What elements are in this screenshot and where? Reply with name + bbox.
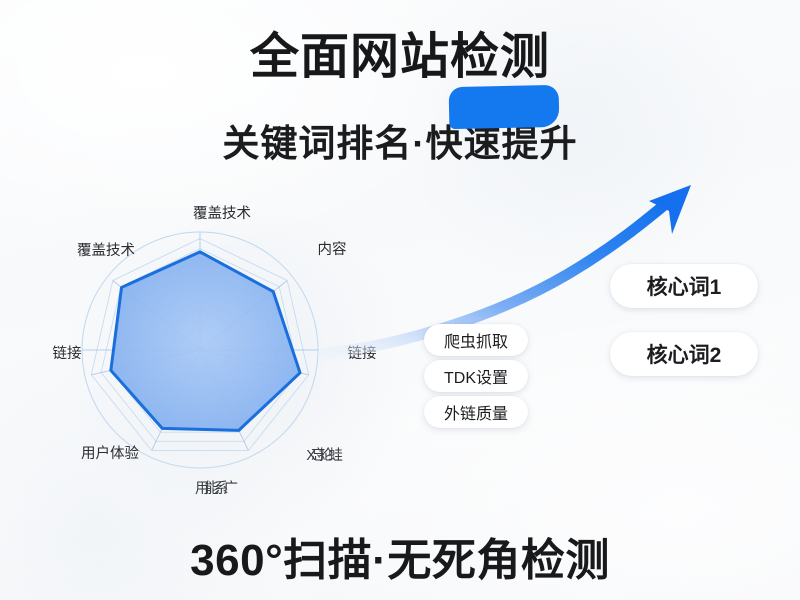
pill-crawl-label: 爬虫抓取 xyxy=(444,328,508,352)
pill-keyword-1[interactable]: 核心词1 xyxy=(610,264,758,308)
pill-tdk-label: TDK设置 xyxy=(444,364,508,388)
footer-text: 360°扫描·无死角检测 xyxy=(190,524,610,588)
radar-label-left: 链接 xyxy=(53,345,82,362)
pill-backlink[interactable]: 外链质量 xyxy=(424,396,528,428)
pill-tdk[interactable]: TDK设置 xyxy=(424,360,528,392)
subheadline: 关键词排名·快速提升 xyxy=(0,113,800,167)
pill-keyword-2-label: 核心词2 xyxy=(647,339,722,369)
pill-keyword-2[interactable]: 核心词2 xyxy=(610,332,758,376)
footer: 360°扫描·无死角检测 xyxy=(0,524,800,588)
radar-series-polygon xyxy=(111,252,300,431)
headline-highlight-block xyxy=(449,85,560,129)
radar-label-top-left: 覆盖技术 xyxy=(77,242,135,259)
radar-label-bottom: 用能系广 xyxy=(195,480,237,497)
pill-backlink-label: 外链质量 xyxy=(444,400,508,424)
radar-label-bottom-right: X忘i抡蛙 xyxy=(306,447,342,464)
headline: 全面网站检测 xyxy=(0,32,800,84)
poster-canvas: 全面网站检测 关键词排名·快速提升 覆盖技术内容链接X忘i抡蛙用能系广用户体验链… xyxy=(0,0,800,600)
pill-crawl[interactable]: 爬虫抓取 xyxy=(424,324,528,356)
radar-label-bottom-left: 用户体验 xyxy=(81,445,139,462)
headline-text: 全面网站检测 xyxy=(250,32,550,84)
radar-label-top: 覆盖技术 xyxy=(193,205,251,222)
pill-keyword-1-label: 核心词1 xyxy=(647,271,722,301)
